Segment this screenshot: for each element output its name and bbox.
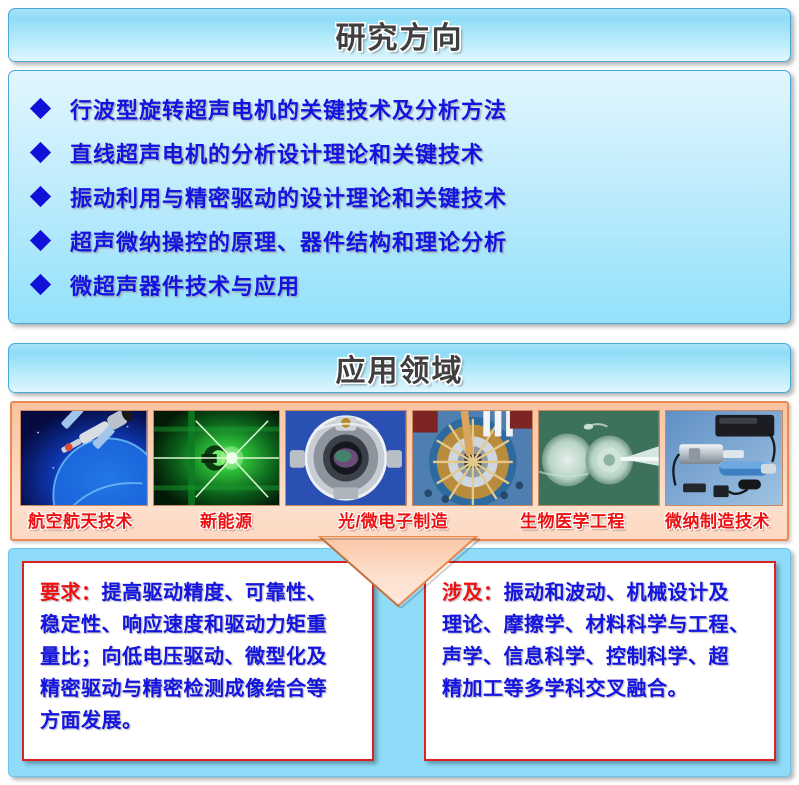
strip-label-biomedical: 生物医学工程	[520, 507, 625, 532]
diamond-bullet-icon	[30, 98, 51, 119]
research-bullet-list: 行波型旋转超声电机的关键技术及分析方法 直线超声电机的分析设计理论和关键技术 振…	[9, 87, 790, 307]
diamond-bullet-icon	[30, 186, 51, 207]
research-direction-body: 行波型旋转超声电机的关键技术及分析方法 直线超声电机的分析设计理论和关键技术 振…	[8, 70, 791, 324]
note-line: 量比；向低电压驱动、微型化及	[40, 641, 362, 673]
diamond-bullet-icon	[30, 142, 51, 163]
list-item-label: 行波型旋转超声电机的关键技术及分析方法	[70, 93, 507, 125]
note-line: 精加工等多学科交叉融合。	[442, 673, 764, 705]
note-line-text: 提高驱动精度、可靠性、	[102, 582, 328, 604]
list-item[interactable]: 行波型旋转超声电机的关键技术及分析方法	[9, 87, 790, 131]
strip-label-micro-nano: 微纳制造技术	[665, 507, 770, 532]
note-line: 方面发展。	[40, 705, 362, 737]
spacecraft-earth-photo[interactable]	[20, 410, 148, 506]
micro-electronics-wafer-photo[interactable]	[412, 410, 534, 506]
down-arrow-connector	[316, 536, 480, 608]
strip-label-optoelectronics: 光/微电子制造	[338, 507, 448, 532]
note-line: 理论、摩擦学、材料科学与工程、	[442, 609, 764, 641]
thumbnail-row	[20, 410, 783, 506]
list-item-label: 振动利用与精密驱动的设计理论和关键技术	[70, 181, 507, 213]
cell-microinjection-photo[interactable]	[538, 410, 660, 506]
list-item-label: 直线超声电机的分析设计理论和关键技术	[70, 137, 484, 169]
note-line: 精密驱动与精密检测成像结合等	[40, 673, 362, 705]
green-laser-photo[interactable]	[153, 410, 281, 506]
list-item[interactable]: 直线超声电机的分析设计理论和关键技术	[9, 131, 790, 175]
list-item[interactable]: 振动利用与精密驱动的设计理论和关键技术	[9, 175, 790, 219]
diamond-bullet-icon	[30, 274, 51, 295]
research-direction-title: 研究方向	[336, 13, 464, 57]
slide-root: 研究方向 行波型旋转超声电机的关键技术及分析方法 直线超声电机的分析设计理论和关…	[0, 0, 799, 785]
diamond-bullet-icon	[30, 230, 51, 251]
list-item[interactable]: 微超声器件技术与应用	[9, 263, 790, 307]
application-field-header: 应用领域	[8, 343, 791, 393]
list-item-label: 微超声器件技术与应用	[70, 269, 300, 301]
note-line: 涉及：振动和波动、机械设计及	[442, 577, 764, 609]
note-line-text: 振动和波动、机械设计及	[504, 582, 730, 604]
list-item[interactable]: 超声微纳操控的原理、器件结构和理论分析	[9, 219, 790, 263]
thumbnail-label-row: 航空航天技术 新能源 光/微电子制造 生物医学工程 微纳制造技术	[20, 507, 783, 537]
note-line: 声学、信息科学、控制科学、超	[442, 641, 764, 673]
strip-label-new-energy: 新能源	[200, 507, 253, 532]
note-lead-label: 要求：	[40, 582, 102, 604]
note-line: 要求：提高驱动精度、可靠性、	[40, 577, 362, 609]
optical-lens-assembly-photo[interactable]	[285, 410, 407, 506]
list-item-label: 超声微纳操控的原理、器件结构和理论分析	[70, 225, 507, 257]
application-field-title: 应用领域	[336, 346, 464, 390]
strip-label-aerospace: 航空航天技术	[28, 507, 133, 532]
note-line: 稳定性、响应速度和驱动力矩重	[40, 609, 362, 641]
research-direction-header: 研究方向	[8, 8, 791, 62]
micro-nano-actuators-photo[interactable]	[665, 410, 783, 506]
application-image-strip: 航空航天技术 新能源 光/微电子制造 生物医学工程 微纳制造技术	[10, 401, 789, 541]
